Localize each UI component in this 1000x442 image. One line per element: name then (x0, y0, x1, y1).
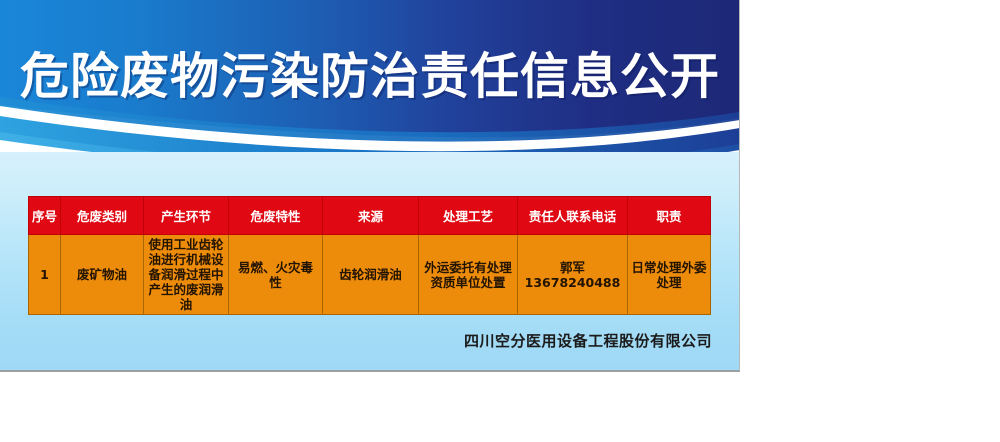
column-header-category: 危废类别 (61, 197, 144, 235)
cell-hazard-property: 易燃、火灾毒性 (229, 235, 323, 315)
cell-generation-stage: 使用工业齿轮油进行机械设备润滑过程中产生的废润滑油 (144, 235, 229, 315)
page-title: 危险废物污染防治责任信息公开 (0, 48, 740, 106)
cell-responsible-contact: 郭军 13678240488 (518, 235, 628, 315)
responsible-person-name: 郭军 (521, 260, 624, 275)
information-disclosure-poster: 危险废物污染防治责任信息公开 序号 危废类别 产生环节 危废特性 来源 处理工艺… (0, 0, 740, 372)
column-header-duty: 职责 (628, 197, 711, 235)
cell-treatment-process: 外运委托有处理资质单位处置 (419, 235, 518, 315)
hazardous-waste-table: 序号 危废类别 产生环节 危废特性 来源 处理工艺 责任人联系电话 职责 1 废… (28, 196, 711, 315)
column-header-generation-stage: 产生环节 (144, 197, 229, 235)
column-header-source: 来源 (323, 197, 419, 235)
column-header-index: 序号 (29, 197, 61, 235)
company-name: 四川空分医用设备工程股份有限公司 (0, 330, 712, 351)
cell-index: 1 (29, 235, 61, 315)
column-header-treatment: 处理工艺 (419, 197, 518, 235)
cell-source: 齿轮润滑油 (323, 235, 419, 315)
cell-category: 废矿物油 (61, 235, 144, 315)
column-header-hazard-property: 危废特性 (229, 197, 323, 235)
table-header-row: 序号 危废类别 产生环节 危废特性 来源 处理工艺 责任人联系电话 职责 (29, 197, 711, 235)
cell-duty: 日常处理外委处理 (628, 235, 711, 315)
responsible-person-phone: 13678240488 (521, 275, 624, 290)
poster-banner: 危险废物污染防治责任信息公开 (0, 0, 740, 152)
column-header-contact-phone: 责任人联系电话 (518, 197, 628, 235)
table-row: 1 废矿物油 使用工业齿轮油进行机械设备润滑过程中产生的废润滑油 易燃、火灾毒性… (29, 235, 711, 315)
